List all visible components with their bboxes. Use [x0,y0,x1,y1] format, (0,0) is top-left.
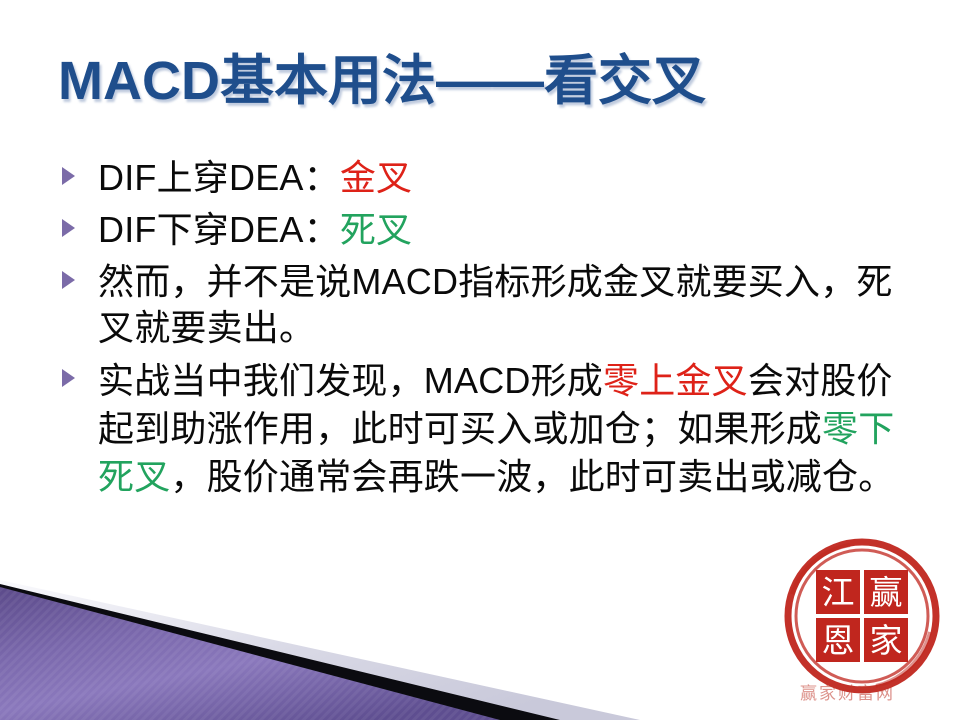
bullet-2-segment-2-highlight: 死叉 [340,209,412,250]
slide-title: MACD基本用法——看交叉 [58,42,898,122]
site-watermark: 赢家财富网 [800,684,960,704]
bullet-item-1-text: DIF上穿DEA：金叉 [98,155,922,201]
bullet-item-3: 然而，并不是说MACD指标形成金叉就要买入，死叉就要卖出。 [52,259,922,351]
decoration-purple-band [0,587,500,720]
decoration-black-band [0,584,560,720]
bullet-4-segment-2-highlight: 零上金叉 [603,360,748,401]
bullet-item-2: DIF下穿DEA：死叉 [52,207,922,253]
bullet-1-segment-2-highlight: 金叉 [340,157,412,198]
decoration-purple-texture [0,587,500,720]
bullet-4-segment-1: 实战当中我们发现，MACD形成 [98,360,603,401]
triangle-right-icon [62,369,75,387]
presentation-slide: MACD基本用法——看交叉 DIF上穿DEA：金叉 DIF下穿DEA：死叉 然而… [0,0,960,720]
bullet-item-4: 实战当中我们发现，MACD形成零上金叉会对股价起到助涨作用，此时可买入或加仓；如… [52,357,922,501]
seal-character-grid: 江 赢 恩 家 [816,570,908,662]
bullet-item-2-text: DIF下穿DEA：死叉 [98,207,922,253]
triangle-right-icon [62,167,75,185]
corner-decoration [0,580,700,720]
triangle-right-icon [62,271,75,289]
bullet-item-3-text: 然而，并不是说MACD指标形成金叉就要买入，死叉就要卖出。 [98,259,922,351]
bullet-1-segment-1: DIF上穿DEA： [98,157,340,198]
seal-char-1: 江 [822,573,855,612]
bullet-4-segment-5: ，股价通常会再跌一波，此时可卖出或减仓。 [170,456,894,497]
decoration-grey-band [0,580,640,720]
triangle-right-icon [62,219,75,237]
seal-char-4: 家 [870,621,903,660]
bullet-2-segment-1: DIF下穿DEA： [98,209,340,250]
bullet-item-4-text: 实战当中我们发现，MACD形成零上金叉会对股价起到助涨作用，此时可买入或加仓；如… [98,357,922,501]
seal-char-3: 恩 [822,621,855,660]
bullet-item-1: DIF上穿DEA：金叉 [52,155,922,201]
seal-char-2: 赢 [870,573,903,612]
bullet-list: DIF上穿DEA：金叉 DIF下穿DEA：死叉 然而，并不是说MACD指标形成金… [52,155,922,505]
